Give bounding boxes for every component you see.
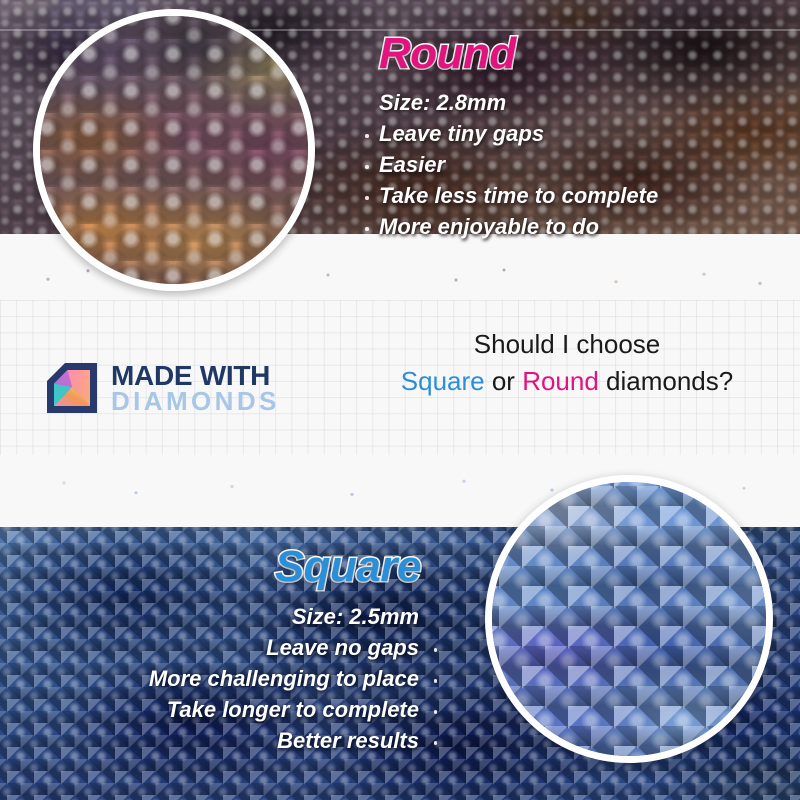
question-word-square: Square [401,366,485,396]
brand-logo[interactable]: MADE WITH DIAMONDS [44,360,280,416]
round-title: Round [379,32,782,76]
square-bullet-2: More challenging to place [30,663,445,694]
square-circle-bead-texture-b [485,475,773,763]
logo-wordmark: MADE WITH DIAMONDS [111,363,280,414]
question-block: Should I choose Square or Round diamonds… [332,328,800,399]
square-bullet-4: Better results [30,725,445,756]
diamond-gem-icon [44,360,100,416]
round-size-line: Size: 2.8mm [362,87,782,118]
round-bullet-1: Leave tiny gaps [362,118,782,149]
question-line-2: Square or Round diamonds? [332,365,800,398]
square-diamonds-magnifier-circle [485,475,773,763]
round-bullet-3: Take less time to complete [362,180,782,211]
round-bullet-4: More enjoyable to do [362,211,782,242]
square-text-block: Square Size: 2.5mm Leave no gaps More ch… [30,545,445,756]
round-text-block: Round Size: 2.8mm Leave tiny gaps Easier… [362,32,782,242]
round-bullet-2: Easier [362,149,782,180]
round-diamonds-magnifier-circle [33,9,315,291]
square-title: Square [30,545,445,589]
question-suffix: diamonds? [599,366,733,396]
square-size-line: Size: 2.5mm [30,601,445,632]
question-conjunction: or [485,366,523,396]
logo-line-diamonds: DIAMONDS [111,389,280,413]
question-word-round: Round [522,366,599,396]
middle-band: MADE WITH DIAMONDS Should I choose Squar… [0,300,800,472]
round-circle-bead-texture-b [33,9,315,291]
question-line-1: Should I choose [332,328,800,361]
infographic-canvas: Round Size: 2.8mm Leave tiny gaps Easier… [0,0,800,800]
logo-line-made-with: MADE WITH [111,363,280,389]
square-bullet-1: Leave no gaps [30,632,445,663]
square-bullet-3: Take longer to complete [30,694,445,725]
